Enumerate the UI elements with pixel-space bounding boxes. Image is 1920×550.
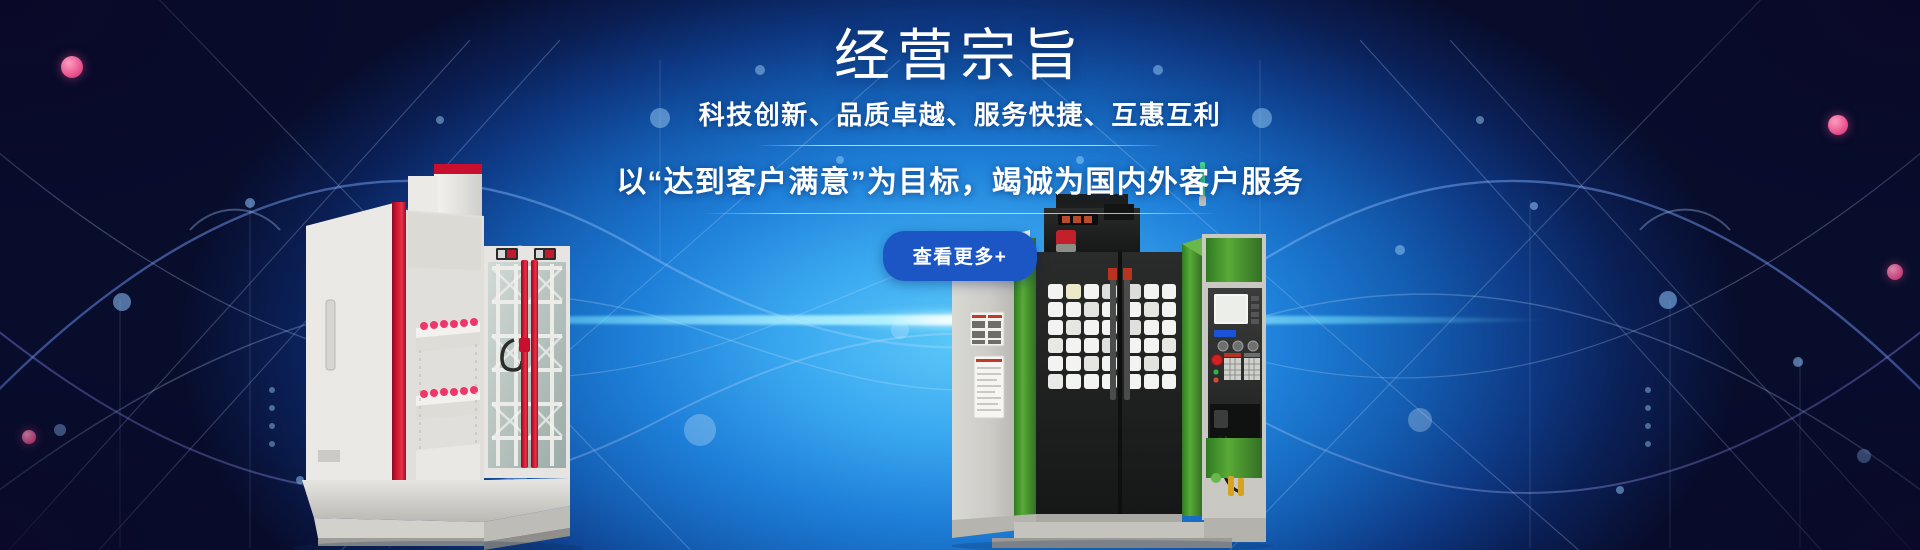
banner-copy: 经营宗旨 科技创新、品质卓越、服务快捷、互惠互利 以“达到客户满意”为目标，竭诚… — [0, 0, 1920, 281]
hero-banner: 经营宗旨 科技创新、品质卓越、服务快捷、互惠互利 以“达到客户满意”为目标，竭诚… — [0, 0, 1920, 550]
page-title: 经营宗旨 — [0, 0, 1920, 85]
accent-dot-lower-left — [22, 430, 36, 444]
banner-subtitle: 科技创新、品质卓越、服务快捷、互惠互利 — [0, 95, 1920, 132]
divider-bottom — [702, 213, 1218, 214]
warning-labels — [970, 312, 1004, 418]
divider-top — [756, 145, 1164, 146]
view-more-button[interactable]: 查看更多+ — [883, 231, 1038, 281]
banner-tagline: 以“达到客户满意”为目标，竭诚为国内外客户服务 — [0, 157, 1920, 201]
